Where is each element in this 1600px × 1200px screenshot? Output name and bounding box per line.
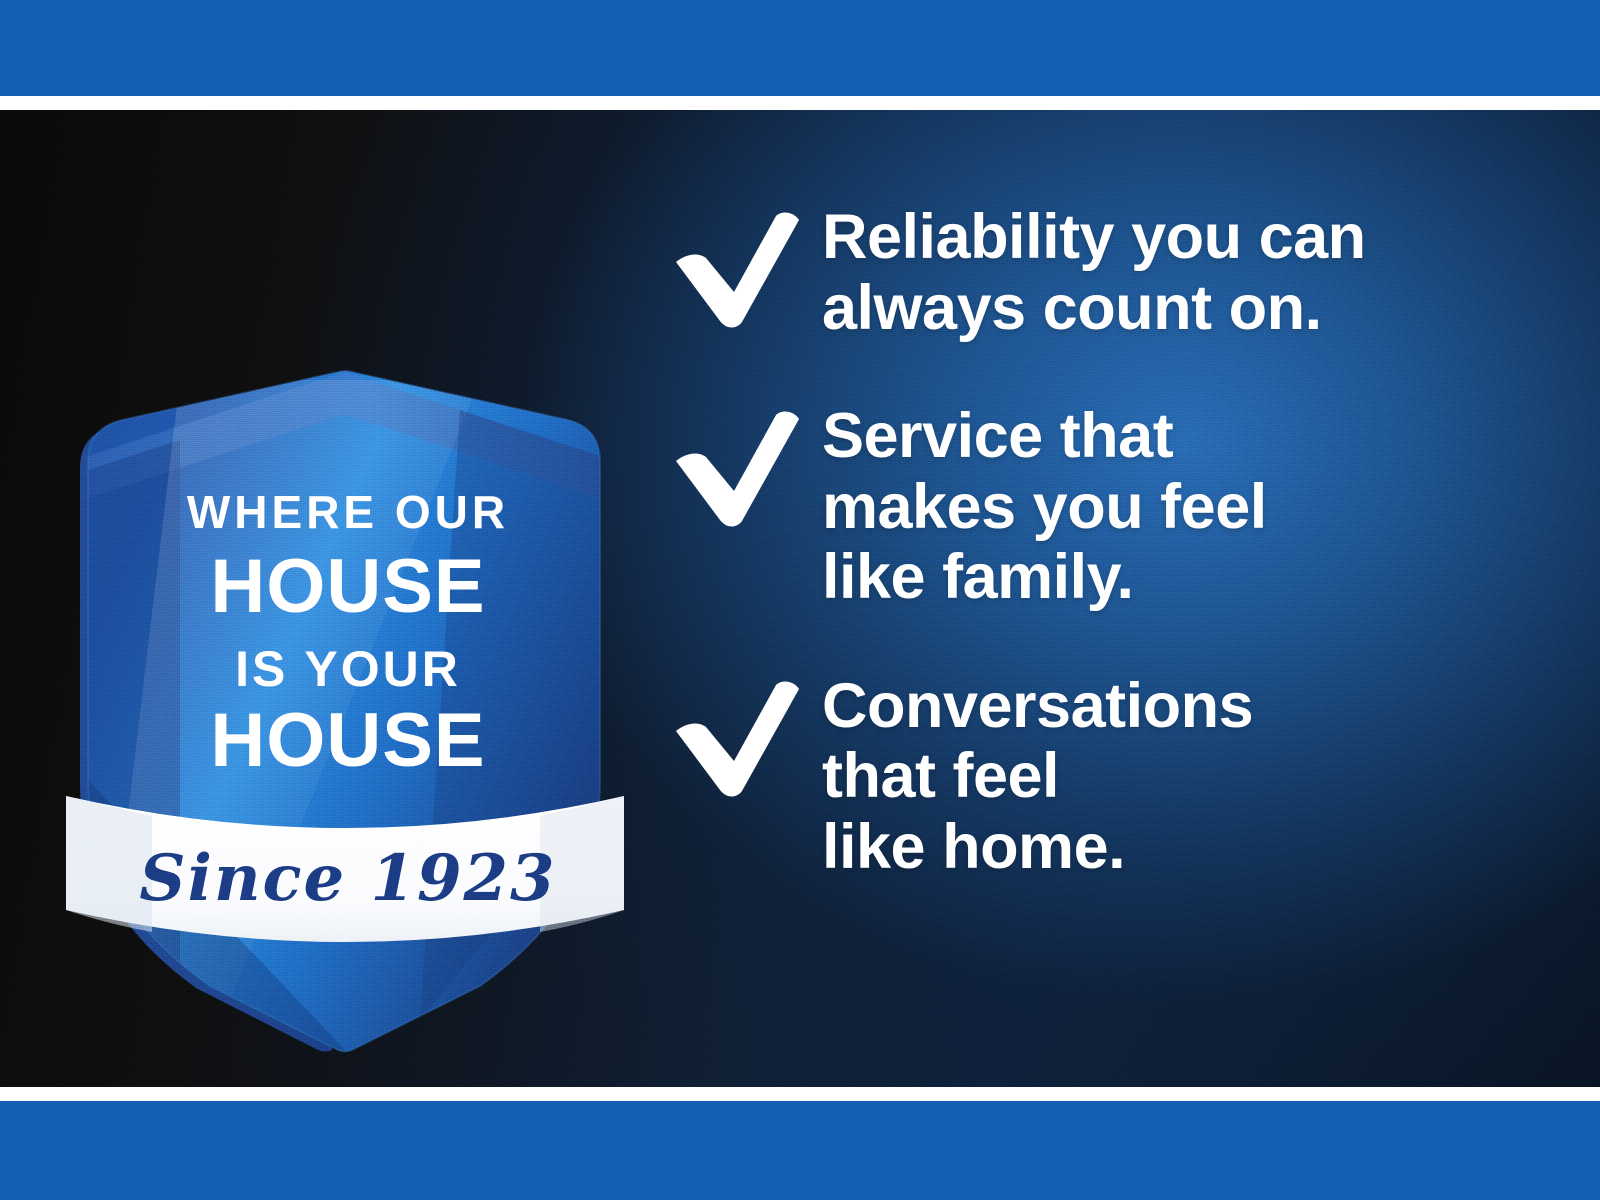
checkmark-icon — [672, 401, 822, 527]
bottom-brand-band — [0, 1101, 1600, 1200]
benefit-item: Conversations that feel like home. — [672, 671, 1552, 883]
logo-line-1: WHERE OUR — [187, 486, 509, 538]
benefit-item: Service that makes you feel like family. — [672, 401, 1552, 613]
benefit-item: Reliability you can always count on. — [672, 202, 1552, 343]
top-brand-band — [0, 0, 1600, 96]
benefit-text: Reliability you can always count on. — [822, 202, 1366, 343]
logo-line-4: HOUSE — [210, 698, 485, 783]
benefits-list: Reliability you can always count on. Ser… — [672, 202, 1552, 882]
checkmark-icon — [672, 202, 822, 328]
ribbon-text: Since 1923 — [139, 841, 556, 916]
logo-line-3: IS YOUR — [235, 641, 461, 697]
logo-line-2: HOUSE — [210, 544, 485, 629]
checkmark-icon — [672, 671, 822, 797]
benefit-text: Conversations that feel like home. — [822, 671, 1253, 883]
promo-graphic: WHERE OUR HOUSE IS YOUR HOUSE Since 1923 — [0, 0, 1600, 1200]
company-shield-logo: WHERE OUR HOUSE IS YOUR HOUSE Since 1923 — [60, 260, 630, 1060]
main-stage: WHERE OUR HOUSE IS YOUR HOUSE Since 1923 — [0, 110, 1600, 1087]
benefit-text: Service that makes you feel like family. — [822, 401, 1267, 613]
